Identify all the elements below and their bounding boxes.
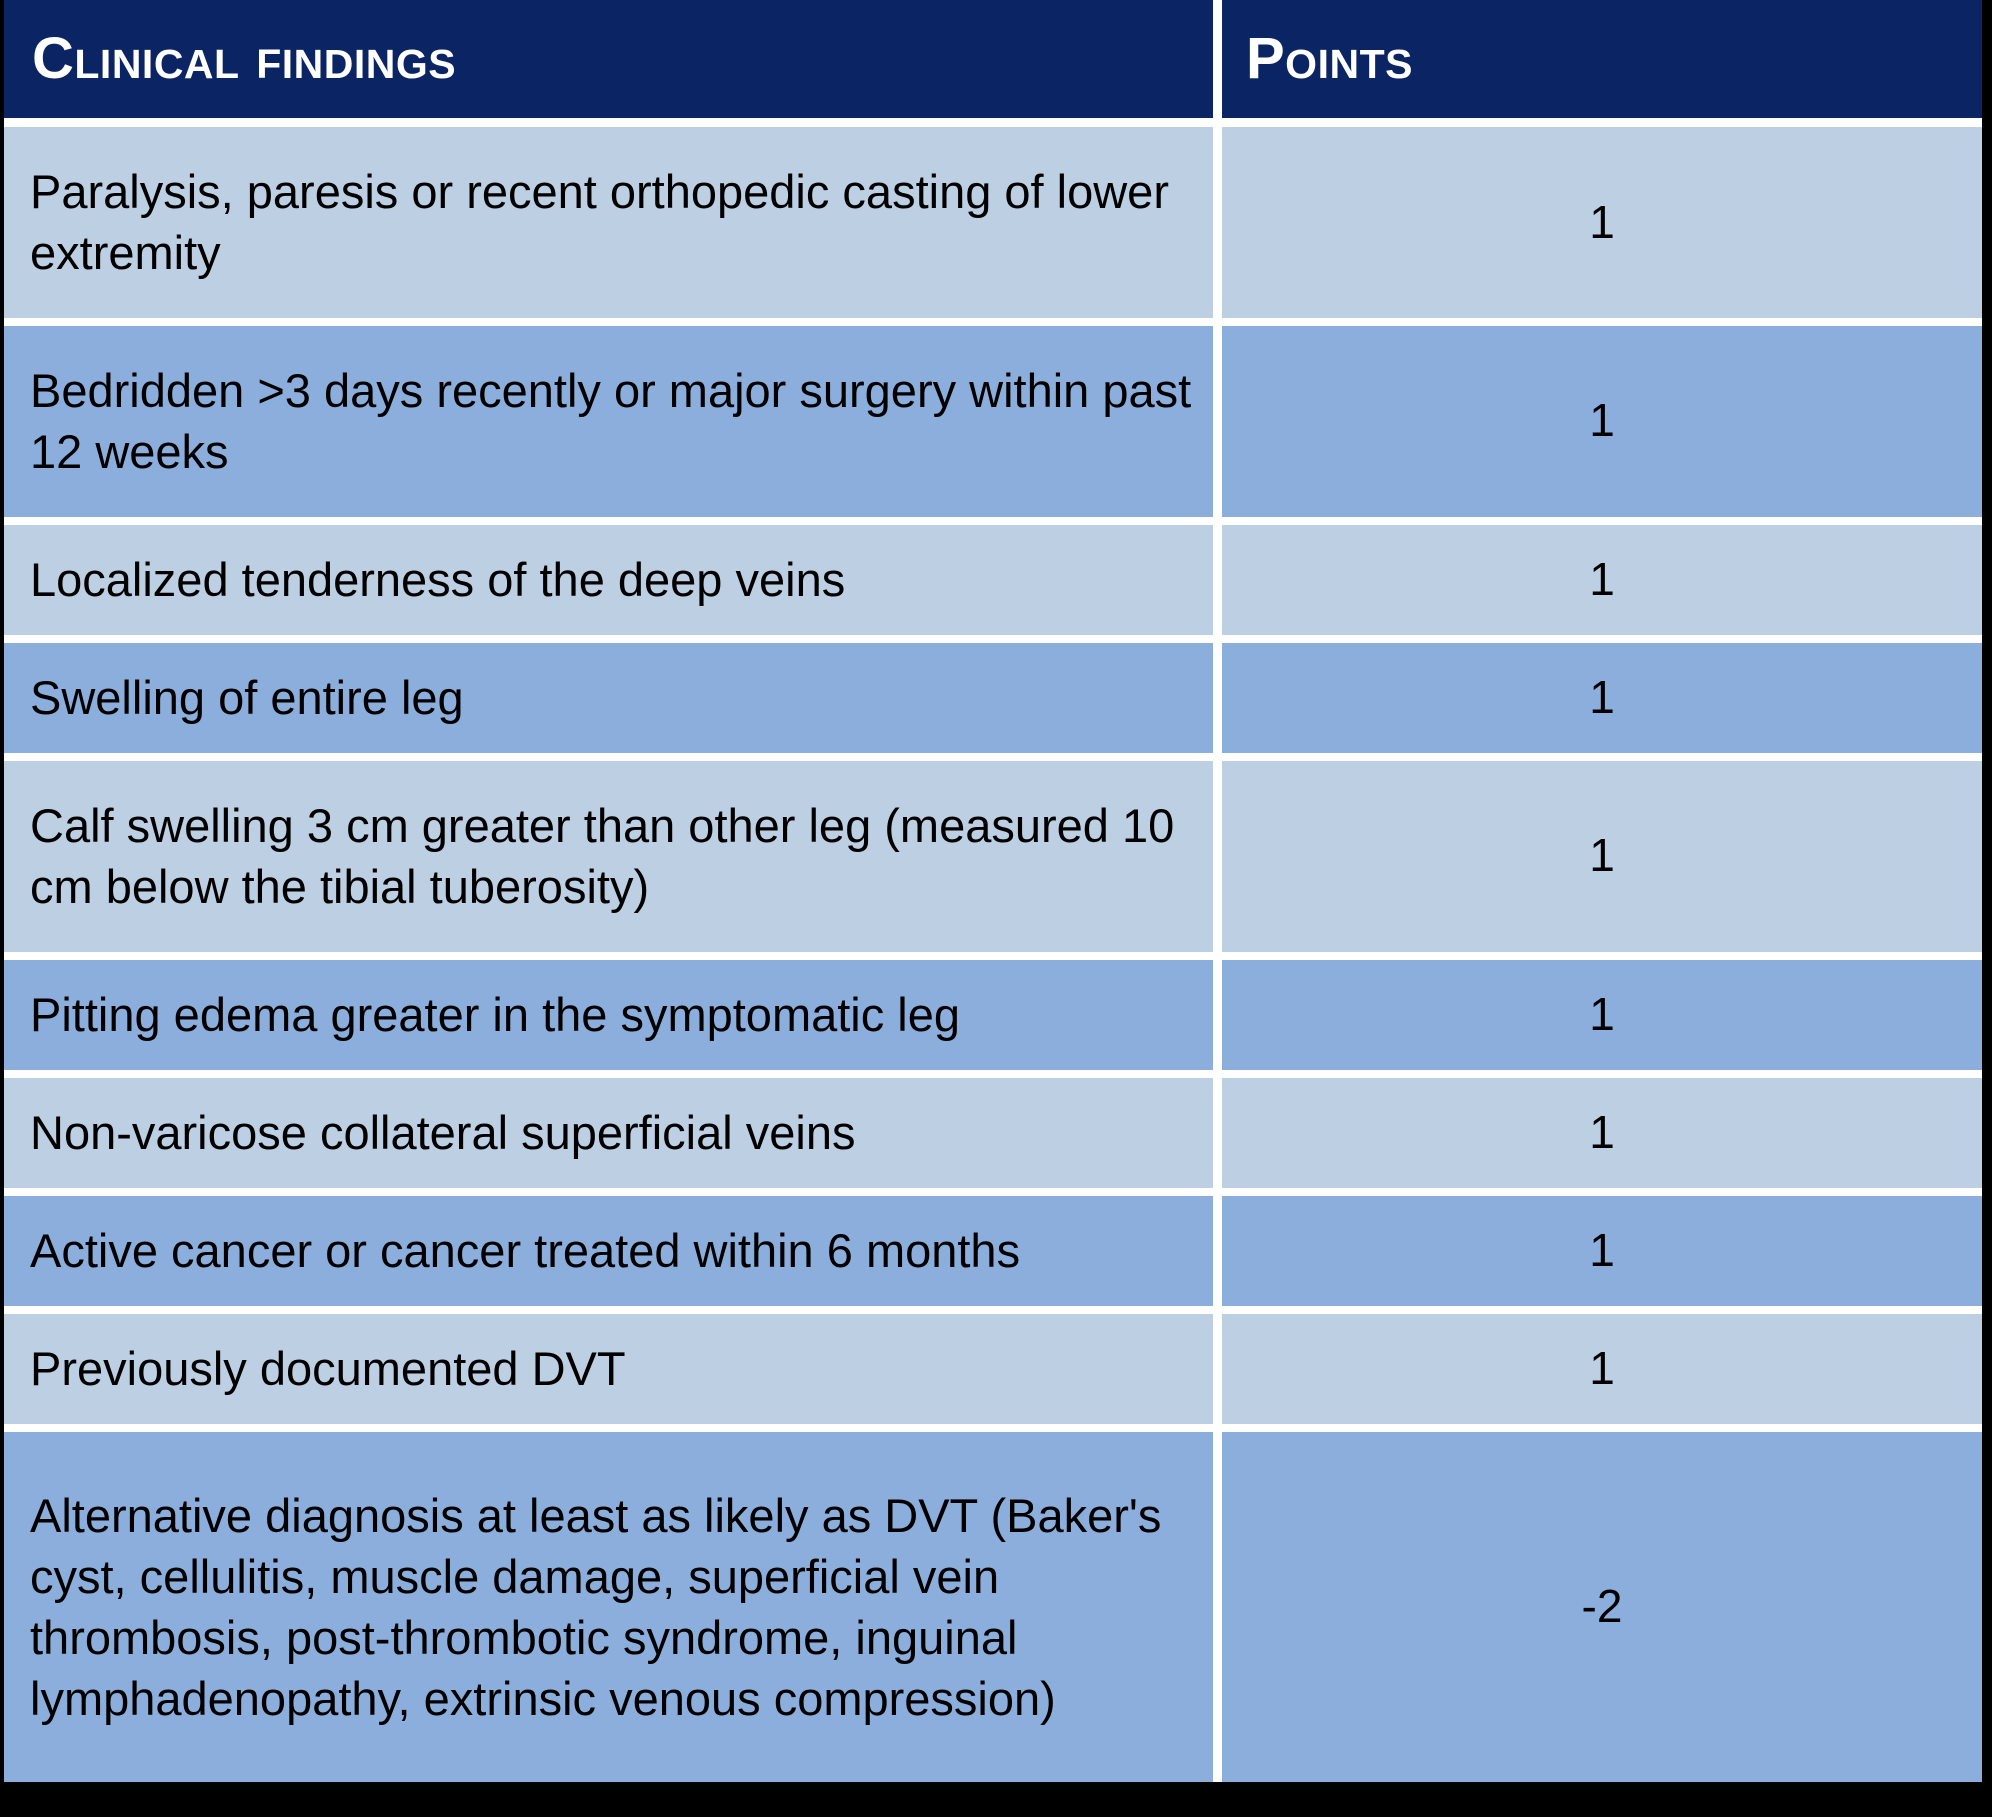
table-row: Non-varicose collateral superficial vein… (4, 1078, 1982, 1196)
cell-clinical-finding: Active cancer or cancer treated within 6… (4, 1196, 1213, 1314)
cell-clinical-finding: Previously documented DVT (4, 1314, 1213, 1432)
cell-column-gap (1213, 761, 1222, 960)
cell-points: 1 (1222, 127, 1982, 326)
column-header-clinical-findings: Clinical findings (4, 0, 1213, 118)
cell-column-gap (1213, 127, 1222, 326)
cell-column-gap (1213, 1196, 1222, 1314)
cell-points: 1 (1222, 525, 1982, 643)
table-row: Localized tenderness of the deep veins1 (4, 525, 1982, 643)
header-column-gap (1213, 0, 1222, 118)
cell-clinical-finding: Bedridden >3 days recently or major surg… (4, 326, 1213, 525)
cell-column-gap (1213, 960, 1222, 1078)
table-row: Pitting edema greater in the symptomatic… (4, 960, 1982, 1078)
table-row: Swelling of entire leg1 (4, 643, 1982, 761)
cell-points: -2 (1222, 1432, 1982, 1782)
cell-points: 1 (1222, 1078, 1982, 1196)
cell-points: 1 (1222, 761, 1982, 960)
cell-clinical-finding: Non-varicose collateral superficial vein… (4, 1078, 1213, 1196)
cell-points: 1 (1222, 326, 1982, 525)
header-row: Clinical findings Points (4, 0, 1982, 118)
cell-points: 1 (1222, 643, 1982, 761)
table-row: Paralysis, paresis or recent orthopedic … (4, 127, 1982, 326)
clinical-findings-table-wrapper: Clinical findings Points Paralysis, pare… (4, 0, 1982, 1782)
table-row: Previously documented DVT1 (4, 1314, 1982, 1432)
cell-column-gap (1213, 1314, 1222, 1432)
cell-points: 1 (1222, 960, 1982, 1078)
cell-clinical-finding: Alternative diagnosis at least as likely… (4, 1432, 1213, 1782)
cell-column-gap (1213, 326, 1222, 525)
header-separator-points (1222, 118, 1982, 127)
page-canvas: Clinical findings Points Paralysis, pare… (0, 0, 1992, 1817)
cell-column-gap (1213, 1432, 1222, 1782)
cell-clinical-finding: Paralysis, paresis or recent orthopedic … (4, 127, 1213, 326)
cell-clinical-finding: Calf swelling 3 cm greater than other le… (4, 761, 1213, 960)
cell-points: 1 (1222, 1196, 1982, 1314)
cell-clinical-finding: Swelling of entire leg (4, 643, 1213, 761)
cell-clinical-finding: Localized tenderness of the deep veins (4, 525, 1213, 643)
cell-clinical-finding: Pitting edema greater in the symptomatic… (4, 960, 1213, 1078)
column-header-points: Points (1222, 0, 1982, 118)
table-row: Alternative diagnosis at least as likely… (4, 1432, 1982, 1782)
header-separator-row (4, 118, 1982, 127)
cell-column-gap (1213, 1078, 1222, 1196)
header-separator-gap (1213, 118, 1222, 127)
table-row: Calf swelling 3 cm greater than other le… (4, 761, 1982, 960)
table-row: Bedridden >3 days recently or major surg… (4, 326, 1982, 525)
cell-column-gap (1213, 525, 1222, 643)
cell-points: 1 (1222, 1314, 1982, 1432)
header-separator-finding (4, 118, 1213, 127)
cell-column-gap (1213, 643, 1222, 761)
table-header: Clinical findings Points (4, 0, 1982, 118)
table-row: Active cancer or cancer treated within 6… (4, 1196, 1982, 1314)
table-body: Paralysis, paresis or recent orthopedic … (4, 118, 1982, 1782)
clinical-findings-table: Clinical findings Points Paralysis, pare… (4, 0, 1982, 1782)
